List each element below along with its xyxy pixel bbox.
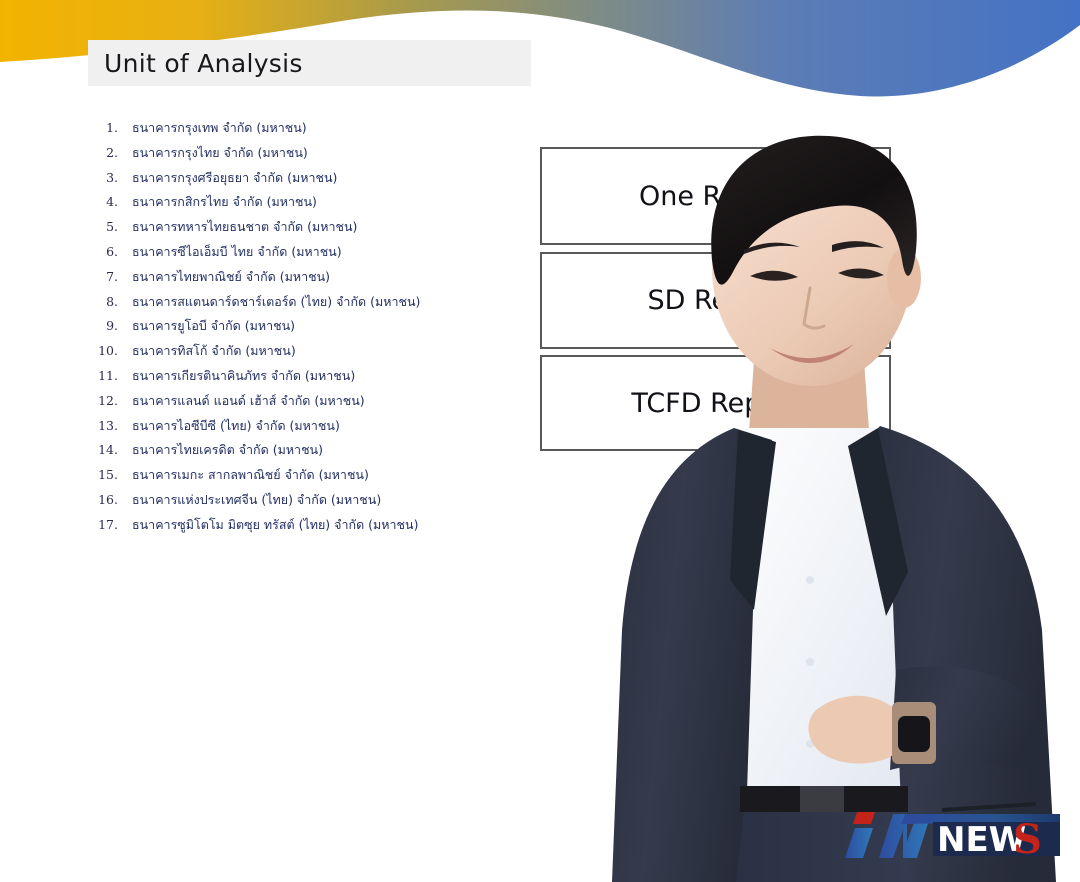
list-item-number: 17. [88, 513, 118, 538]
report-box-label: TCFD Report [631, 388, 799, 419]
list-item-number: 3. [88, 166, 118, 191]
shirt-button [806, 576, 814, 584]
list-item-label: ธนาคารกรุงไทย จำกัด (มหาชน) [132, 141, 308, 166]
presenter-trousers [736, 810, 912, 882]
presenter-belt-buckle [800, 786, 844, 812]
presenter-ear [887, 248, 921, 308]
presenter-belt [740, 786, 908, 812]
logo-word-plate [933, 822, 1060, 856]
list-item: 11. ธนาคารเกียรตินาคินภัทร จำกัด (มหาชน) [88, 364, 508, 389]
logo-top-bar [901, 814, 1060, 824]
list-item-label: ธนาคารสแตนดาร์ดชาร์เตอร์ด (ไทย) จำกัด (ม… [132, 290, 420, 315]
list-item: 16. ธนาคารแห่งประเทศจีน (ไทย) จำกัด (มหา… [88, 488, 508, 513]
presenter-shirt [716, 428, 904, 810]
list-item: 4. ธนาคารกสิกรไทย จำกัด (มหาชน) [88, 190, 508, 215]
list-item-label: ธนาคารไทยเครดิต จำกัด (มหาชน) [132, 438, 323, 463]
list-item: 3. ธนาคารกรุงศรีอยุธยา จำกัด (มหาชน) [88, 166, 508, 191]
shirt-button [806, 658, 814, 666]
unit-of-analysis-list: 1. ธนาคารกรุงเทพ จำกัด (มหาชน) 2. ธนาคาร… [88, 116, 508, 538]
list-item: 10. ธนาคารทิสโก้ จำกัด (มหาชน) [88, 339, 508, 364]
presenter-watch-strap [892, 702, 936, 764]
list-item-number: 12. [88, 389, 118, 414]
list-item-number: 5. [88, 215, 118, 240]
list-item-number: 2. [88, 141, 118, 166]
list-item-label: ธนาคารแห่งประเทศจีน (ไทย) จำกัด (มหาชน) [132, 488, 381, 513]
list-item-number: 1. [88, 116, 118, 141]
list-item-label: ธนาคารกรุงศรีอยุธยา จำกัด (มหาชน) [132, 166, 337, 191]
list-item-label: ธนาคารไทยพาณิชย์ จำกัด (มหาชน) [132, 265, 330, 290]
presenter-jacket-pocket [942, 804, 1036, 810]
list-item: 9. ธนาคารยูโอบี จำกัด (มหาชน) [88, 314, 508, 339]
list-item: 6. ธนาคารซีไอเอ็มบี ไทย จำกัด (มหาชน) [88, 240, 508, 265]
list-item-number: 11. [88, 364, 118, 389]
list-item: 1. ธนาคารกรุงเทพ จำกัด (มหาชน) [88, 116, 508, 141]
presenter-lapel-right [848, 428, 908, 616]
logo-wordmark: NEW [937, 820, 1026, 860]
list-item: 7. ธนาคารไทยพาณิชย์ จำกัด (มหาชน) [88, 265, 508, 290]
list-item-label: ธนาคารไอซีบีซี (ไทย) จำกัด (มหาชน) [132, 414, 340, 439]
list-item-label: ธนาคารกรุงเทพ จำกัด (มหาชน) [132, 116, 307, 141]
presenter-hand [809, 696, 905, 764]
report-box-label: SD Report [647, 285, 783, 316]
report-box-one-report: One Report [540, 147, 891, 245]
list-item-label: ธนาคารทิสโก้ จำกัด (มหาชน) [132, 339, 296, 364]
list-item: 14. ธนาคารไทยเครดิต จำกัด (มหาชน) [88, 438, 508, 463]
list-item-label: ธนาคารเกียรตินาคินภัทร จำกัด (มหาชน) [132, 364, 355, 389]
list-item-number: 16. [88, 488, 118, 513]
list-item: 17. ธนาคารซูมิโตโม มิตซุย ทรัสต์ (ไทย) จ… [88, 513, 508, 538]
logo-letter-i [845, 828, 873, 858]
list-item-label: ธนาคารแลนด์ แอนด์ เฮ้าส์ จำกัด (มหาชน) [132, 389, 365, 414]
report-box-tcfd-report: TCFD Report [540, 355, 891, 451]
list-item-label: ธนาคารทหารไทยธนชาต จำกัด (มหาชน) [132, 215, 357, 240]
list-item-label: ธนาคารยูโอบี จำกัด (มหาชน) [132, 314, 295, 339]
list-item: 2. ธนาคารกรุงไทย จำกัด (มหาชน) [88, 141, 508, 166]
report-box-sd-report: SD Report [540, 252, 891, 349]
page-title: Unit of Analysis [104, 49, 303, 78]
list-item-number: 10. [88, 339, 118, 364]
list-item: 13. ธนาคารไอซีบีซี (ไทย) จำกัด (มหาชน) [88, 414, 508, 439]
list-item-number: 13. [88, 414, 118, 439]
list-item-label: ธนาคารซูมิโตโม มิตซุย ทรัสต์ (ไทย) จำกัด… [132, 513, 418, 538]
slide-title-plate: Unit of Analysis [88, 40, 531, 86]
presenter-lapel-left [730, 430, 776, 610]
list-item-label: ธนาคารเมกะ สากลพาณิชย์ จำกัด (มหาชน) [132, 463, 369, 488]
report-box-label: One Report [639, 181, 792, 212]
presenter-jacket-left [612, 428, 772, 882]
list-item-number: 14. [88, 438, 118, 463]
list-item: 5. ธนาคารทหารไทยธนชาต จำกัด (มหาชน) [88, 215, 508, 240]
list-item: 15. ธนาคารเมกะ สากลพาณิชย์ จำกัด (มหาชน) [88, 463, 508, 488]
list-item-number: 4. [88, 190, 118, 215]
logo-red-accent [853, 812, 875, 824]
logo-letter-n [879, 814, 931, 858]
shirt-button [806, 740, 814, 748]
list-item-number: 7. [88, 265, 118, 290]
list-item: 8. ธนาคารสแตนดาร์ดชาร์เตอร์ด (ไทย) จำกัด… [88, 290, 508, 315]
presenter-watch-face [898, 716, 930, 752]
presenter-forearm [890, 667, 1044, 774]
list-item-number: 15. [88, 463, 118, 488]
list-item-label: ธนาคารกสิกรไทย จำกัด (มหาชน) [132, 190, 317, 215]
list-item-label: ธนาคารซีไอเอ็มบี ไทย จำกัด (มหาชน) [132, 240, 342, 265]
presenter-jacket-right [866, 426, 1056, 882]
list-item-number: 8. [88, 290, 118, 315]
in-news-logo: NEW S [845, 800, 1060, 862]
logo-wordmark-s: S [1013, 816, 1042, 862]
list-item-number: 6. [88, 240, 118, 265]
list-item-number: 9. [88, 314, 118, 339]
list-item: 12. ธนาคารแลนด์ แอนด์ เฮ้าส์ จำกัด (มหาช… [88, 389, 508, 414]
